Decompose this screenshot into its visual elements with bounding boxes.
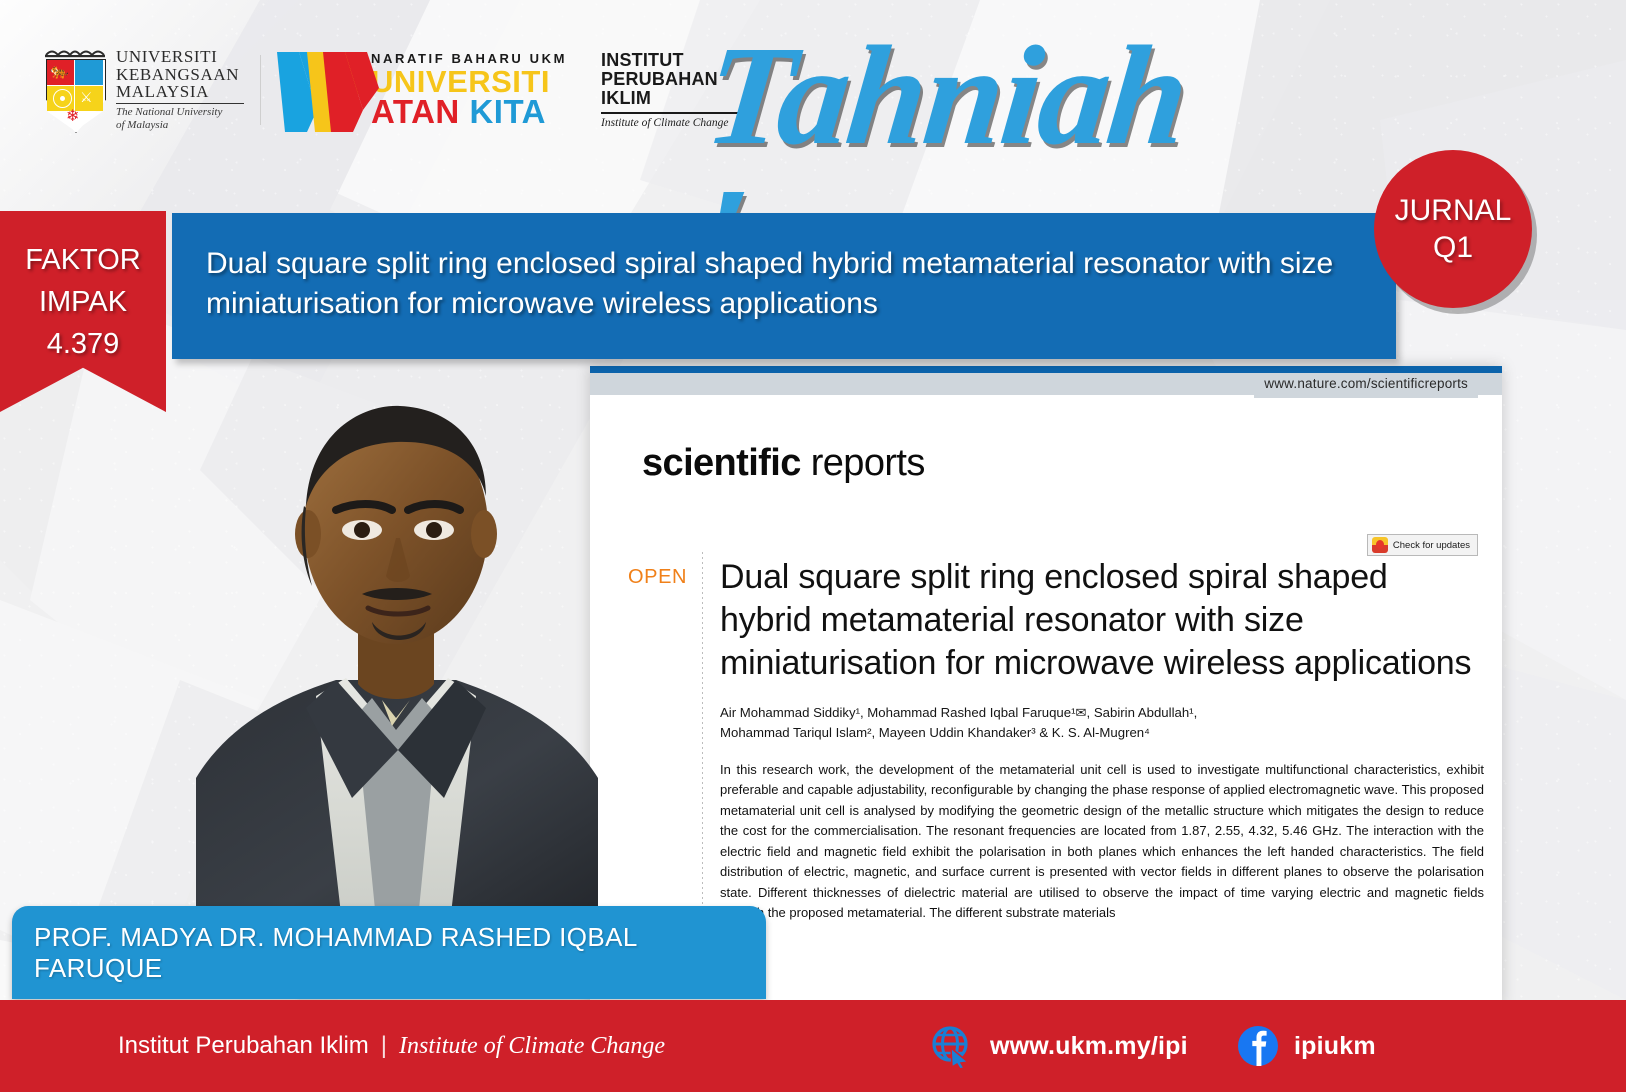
footer-website-block[interactable]: www.ukm.my/ipi [930,1024,1188,1068]
crest-atom-icon [53,89,72,108]
ukm-line-2: KEBANGSAAN [116,66,244,83]
publication-title-banner: Dual square split ring enclosed spiral s… [172,213,1396,359]
footer-institute-en: Institute of Climate Change [399,1033,665,1060]
double-w-icon [277,48,387,132]
facebook-icon [1236,1024,1280,1068]
paper-top-rule [590,366,1502,373]
footer-institute-block: Institut Perubahan Iklim | Institute of … [118,1032,665,1060]
authors-line-1: Air Mohammad Siddiky¹, Mohammad Rashed I… [720,703,1484,723]
crest-keris-icon: ⚔ [80,89,98,105]
researcher-portrait-photo [186,378,606,940]
footer-facebook-label: ipiukm [1294,1032,1376,1061]
journal-badge-line1: JURNAL [1395,192,1512,230]
nature-url-label: www.nature.com/scientificreports [1254,374,1478,398]
scientific-reports-logo: scientific reports [642,442,925,485]
ukm-wordmark: UNIVERSITI KEBANGSAAN MALAYSIA The Natio… [116,48,244,131]
ukm-divider-rule [116,103,244,104]
researcher-name-bar: PROF. MADYA DR. MOHAMMAD RASHED IQBAL FA… [12,906,766,999]
check-for-updates-badge[interactable]: Check for updates [1367,534,1478,556]
impact-label-line2: IMPAK [0,281,166,323]
narratif-wordmark: NARATIF BAHARU UKM UNIVERSITI ATAN KITA [371,52,567,128]
sr-logo-light: reports [801,442,925,484]
article-authors: Air Mohammad Siddiky¹, Mohammad Rashed I… [720,703,1484,743]
ukm-tagline-2: of Malaysia [116,119,244,132]
article-title: Dual square split ring enclosed spiral s… [720,556,1484,684]
crest-hibiscus-icon: ❄ [66,109,84,127]
sr-logo-bold: scientific [642,442,801,484]
journal-quartile-badge: JURNAL Q1 [1374,150,1532,308]
journal-badge-line2: Q1 [1433,229,1473,267]
article-body: Dual square split ring enclosed spiral s… [720,556,1484,923]
researcher-name: PROF. MADYA DR. MOHAMMAD RASHED IQBAL FA… [12,922,766,984]
footer-bar: Institut Perubahan Iklim | Institute of … [0,1000,1626,1092]
article-abstract: In this research work, the development o… [720,760,1484,923]
footer-separator: | [381,1032,387,1060]
crest-crown-icon [44,47,106,58]
crest-tiger-icon: 🐅 [50,64,69,79]
crest-quadrant-blue [75,60,103,85]
narratif-kita: KITA [469,93,546,130]
narratif-watan-kita: ATAN KITA [371,95,567,128]
ukm-logo: 🐅 ⚔ ❄ UNIVERSITI KEBANGSAAN MALAYSIA The… [44,47,244,133]
check-for-updates-label: Check for updates [1393,540,1470,551]
footer-institute-my: Institut Perubahan Iklim [118,1032,369,1060]
impact-value: 4.379 [0,323,166,365]
ukm-line-1: UNIVERSITI [116,48,244,65]
poster-canvas: 🐅 ⚔ ❄ UNIVERSITI KEBANGSAAN MALAYSIA The… [0,0,1626,1092]
logo-separator-1 [260,55,261,125]
globe-cursor-icon [930,1024,974,1068]
crossmark-icon [1372,537,1388,553]
publication-title-text: Dual square split ring enclosed spiral s… [172,244,1396,329]
impact-label-line1: FAKTOR [0,239,166,281]
header-logo-row: 🐅 ⚔ ❄ UNIVERSITI KEBANGSAAN MALAYSIA The… [44,34,753,146]
authors-line-2: Mohammad Tariqul Islam², Mayeen Uddin Kh… [720,723,1484,743]
open-access-label: OPEN [628,566,687,589]
ukm-tagline-1: The National University [116,106,244,119]
ukm-line-3: MALAYSIA [116,83,244,100]
narratif-baharu-logo: NARATIF BAHARU UKM UNIVERSITI ATAN KITA [277,47,567,133]
footer-facebook-block[interactable]: ipiukm [1236,1024,1376,1068]
ukm-crest-icon: 🐅 ⚔ ❄ [44,47,106,133]
congratulations-headline: Tahniah ! [697,24,1235,194]
footer-website-label: www.ukm.my/ipi [990,1032,1188,1061]
